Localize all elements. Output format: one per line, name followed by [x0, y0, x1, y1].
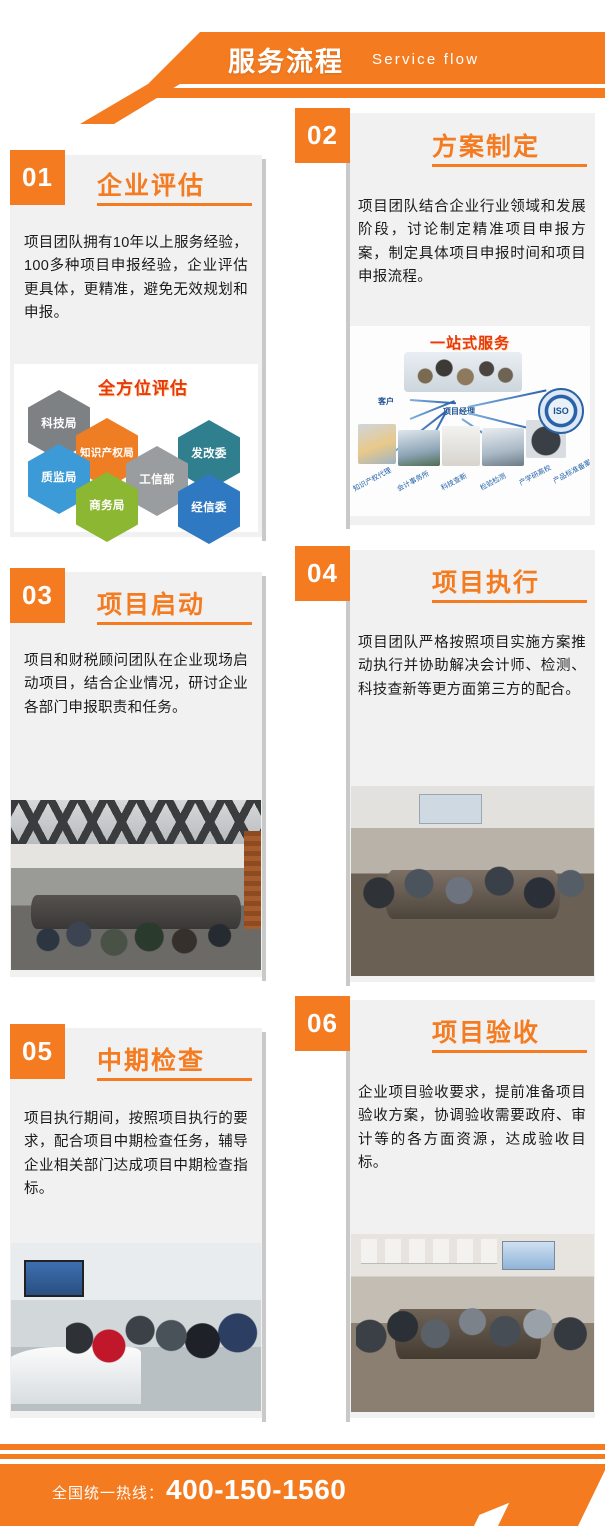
- one-stop-label-search: 科技查新: [439, 471, 468, 493]
- photo-conference-room-03: [11, 800, 261, 970]
- step-body-04: 项目团队严格按照项目实施方案推动执行并协助解决会计师、检测、科技查新等更方面第三…: [358, 632, 586, 702]
- step-number-badge-04: 04: [295, 546, 350, 601]
- step-title-rule-02: [432, 164, 587, 167]
- step-number-badge-06: 06: [295, 996, 350, 1051]
- step-body-05: 项目执行期间，按照项目执行的要求，配合项目中期检查任务，辅导企业相关部门达成项目…: [24, 1108, 248, 1202]
- page-footer: 全国统一热线： 400-150-1560: [0, 1432, 605, 1538]
- one-stop-label-university: 产学研高校: [517, 463, 553, 488]
- hotline-number[interactable]: 400-150-1560: [166, 1474, 346, 1506]
- step-body-02: 项目团队结合企业行业领域和发展阶段，讨论制定精准项目申报方案，制定具体项目申报时…: [358, 196, 586, 290]
- page-subtitle: Service flow: [372, 51, 479, 68]
- hotline-label: 全国统一热线：: [52, 1482, 164, 1503]
- step-title-rule-06: [432, 1050, 587, 1053]
- step-title-06: 项目验收: [432, 1013, 540, 1049]
- step-body-01: 项目团队拥有10年以上服务经验，100多种项目申报经验，企业评估更具体，更精准，…: [24, 232, 248, 326]
- page-header: 服务流程 Service flow: [0, 0, 605, 118]
- step-body-03: 项目和财税顾问团队在企业现场启动项目，结合企业情况，研讨企业各部门申报职责和任务…: [24, 650, 248, 720]
- step-title-rule-05: [97, 1078, 252, 1081]
- one-stop-service-diagram: 一站式服务 客户 项目经理 ISO 知识产权代理 会计事务所 科技查新 检验检测…: [350, 326, 590, 516]
- step-title-01: 企业评估: [97, 166, 205, 202]
- photo-boardroom-06: [351, 1234, 594, 1412]
- step-number-badge-01: 01: [10, 150, 65, 205]
- one-stop-label-ip: 知识产权代理: [351, 465, 393, 494]
- one-stop-hero-photo: [404, 352, 522, 392]
- step-title-05: 中期检查: [97, 1041, 205, 1077]
- step-title-02: 方案制定: [432, 127, 540, 163]
- one-stop-iso-seal: ISO: [538, 388, 584, 434]
- footer-top-rule: [0, 1444, 605, 1450]
- step-title-rule-04: [432, 600, 587, 603]
- ceiling-detail: [11, 800, 261, 844]
- step-body-06: 企业项目验收要求，提前准备项目验收方案，协调验收需要政府、审计等的各方面资源，达…: [358, 1082, 586, 1176]
- step-title-03: 项目启动: [97, 585, 205, 621]
- wood-wall-detail: [244, 831, 262, 930]
- people-detail: [361, 832, 585, 950]
- one-stop-seal-text: ISO: [553, 406, 569, 416]
- footer-second-rule: [0, 1454, 605, 1459]
- one-stop-label-standards: 产品标准备案: [551, 457, 590, 486]
- one-stop-arrow-g: [468, 389, 547, 408]
- people-detail: [26, 892, 246, 960]
- wall-frames-detail: [361, 1239, 497, 1264]
- step-title-rule-01: [97, 203, 252, 206]
- step-number-badge-02: 02: [295, 108, 350, 163]
- hex-diagram-title: 全方位评估: [98, 374, 188, 399]
- one-stop-thumb-search: [442, 426, 480, 466]
- one-stop-thumb-testing: [482, 428, 524, 466]
- page-title: 服务流程: [228, 40, 344, 79]
- step-title-04: 项目执行: [432, 563, 540, 599]
- step-title-rule-03: [97, 622, 252, 625]
- photo-meeting-table-04: [351, 786, 594, 976]
- header-banner-underline: [0, 88, 605, 98]
- step-number-badge-05: 05: [10, 1024, 65, 1079]
- one-stop-thumb-ip: [358, 424, 396, 464]
- one-stop-center-node: 项目经理: [443, 406, 475, 417]
- one-stop-label-testing: 检验检测: [478, 471, 507, 493]
- one-stop-thumb-accounting: [398, 430, 440, 466]
- window-detail: [419, 794, 482, 824]
- hex-diagram-01: 全方位评估 科技局 知识产权局 发改委 质监局 工信部 商务局 经信委: [14, 364, 258, 532]
- one-stop-label-accounting: 会计事务所: [395, 469, 431, 494]
- people-detail: [356, 1266, 589, 1387]
- photo-site-visit-05: [11, 1243, 261, 1411]
- one-stop-client-node: 客户: [378, 396, 394, 407]
- people-detail: [66, 1270, 261, 1401]
- one-stop-title: 一站式服务: [430, 332, 510, 353]
- step-number-badge-03: 03: [10, 568, 65, 623]
